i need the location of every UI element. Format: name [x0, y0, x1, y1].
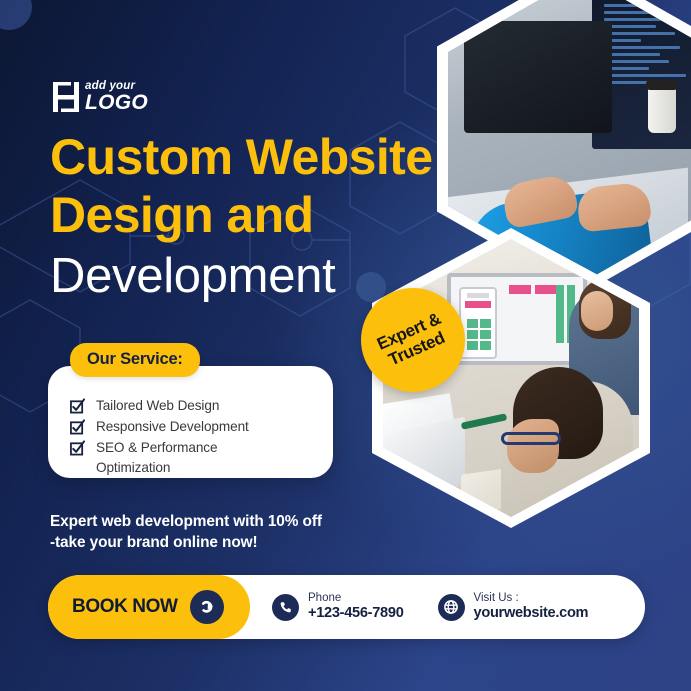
service-label: Tailored Web Design [96, 396, 219, 416]
badge-label: Expert & Trusted [374, 309, 451, 371]
brand-logo[interactable]: add your LOGO [52, 79, 148, 115]
contact-value: +123-456-7890 [308, 605, 404, 621]
bracket-h-logo-icon [52, 79, 86, 115]
headline-line-3: Development [50, 247, 520, 305]
book-now-label: BOOK NOW [72, 596, 178, 618]
book-now-button[interactable]: BOOK NOW [48, 575, 250, 639]
contact-label: Phone [308, 592, 404, 605]
promo-text: Expert web development with 10% off -tak… [50, 511, 380, 553]
headline-line-2: Design and [50, 186, 520, 244]
globe-icon [438, 594, 465, 621]
promo-poster: Expert & Trusted add your LOGO Custom We… [0, 0, 691, 691]
service-card-badge: Our Service: [70, 343, 200, 377]
service-list: Tailored Web Design Responsive Developme… [70, 396, 330, 478]
contact-label: Visit Us : [474, 592, 589, 605]
contact-phone[interactable]: Phone +123-456-7890 [272, 592, 404, 621]
headline: Custom Website Design and Development [50, 128, 520, 305]
service-label: SEO & Performance Optimization [96, 438, 217, 478]
decorative-dot [0, 0, 32, 30]
contact-group: Phone +123-456-7890 Visit Us : yourwebsi… [272, 575, 588, 639]
headline-line-1: Custom Website [50, 128, 520, 186]
list-item: Tailored Web Design [70, 396, 330, 416]
logo-word: LOGO [85, 93, 148, 113]
curved-arrow-right-icon [190, 590, 224, 624]
contact-value: yourwebsite.com [474, 605, 589, 621]
checkbox-checked-icon [70, 419, 85, 435]
checkbox-checked-icon [70, 440, 85, 456]
service-label: Responsive Development [96, 417, 249, 437]
list-item: SEO & Performance Optimization [70, 438, 330, 478]
phone-icon [272, 594, 299, 621]
checkbox-checked-icon [70, 398, 85, 414]
list-item: Responsive Development [70, 417, 330, 437]
contact-website[interactable]: Visit Us : yourwebsite.com [438, 592, 589, 621]
